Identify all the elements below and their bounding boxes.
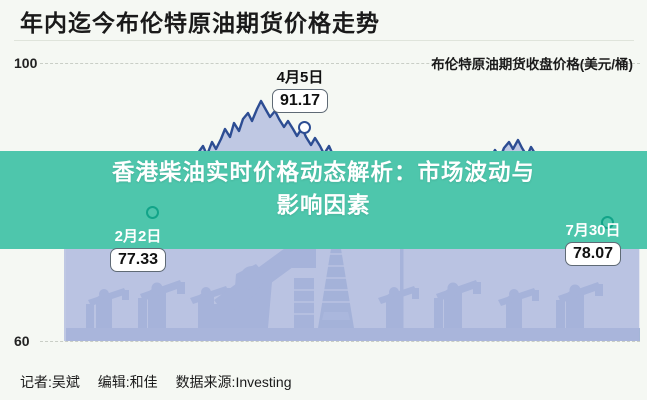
marker-apr-5 — [298, 121, 311, 134]
callout-feb-2-value: 77.33 — [110, 248, 166, 272]
y-tick-100: 100 — [14, 55, 37, 71]
callout-apr-5-date: 4月5日 — [272, 69, 328, 87]
chart-legend-label: 布伦特原油期货收盘价格(美元/桶) — [431, 53, 633, 73]
callout-apr-5-value: 91.17 — [272, 89, 328, 113]
title-bar: 年内迄今布伦特原油期货价格走势 — [0, 0, 647, 42]
callout-jul-30-date: 7月30日 — [565, 222, 621, 240]
ground-strip — [66, 328, 640, 341]
gridline-60 — [40, 341, 640, 342]
credit-source: 数据来源:Investing — [176, 374, 292, 390]
callout-feb-2-date: 2月2日 — [110, 228, 166, 246]
chart-infographic: 年内迄今布伦特原油期货价格走势 100 80 60 布伦特原油期货收盘价格(美元… — [0, 0, 647, 400]
callout-feb-2: 2月2日 77.33 — [110, 228, 166, 272]
page-title: 年内迄今布伦特原油期货价格走势 — [20, 4, 380, 38]
credits-line: 记者:吴斌 编辑:和佳 数据来源:Investing — [20, 372, 306, 392]
headline-line-2: 影响因素 — [0, 189, 647, 222]
credit-reporter: 记者:吴斌 — [20, 374, 80, 390]
headline-line-1: 香港柴油实时价格动态解析：市场波动与 — [0, 156, 647, 189]
credit-editor: 编辑:和佳 — [98, 374, 158, 390]
y-tick-60: 60 — [14, 333, 30, 349]
callout-apr-5: 4月5日 91.17 — [272, 69, 328, 113]
callout-jul-30: 7月30日 78.07 — [565, 222, 621, 266]
headline-overlay: 香港柴油实时价格动态解析：市场波动与 影响因素 — [0, 156, 647, 222]
title-divider — [14, 40, 634, 41]
marker-feb-2 — [146, 206, 159, 219]
callout-jul-30-value: 78.07 — [565, 242, 621, 266]
